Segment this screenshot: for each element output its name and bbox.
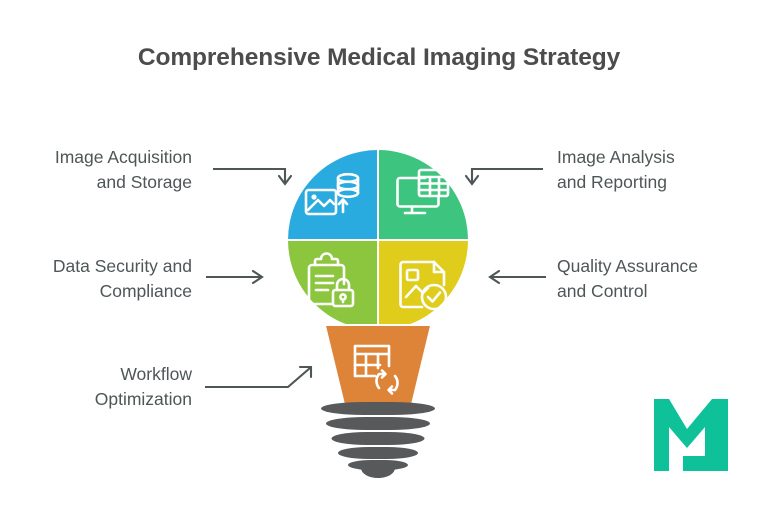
bulb-globe (288, 150, 468, 330)
bulb-quadrant-acquisition[interactable] (288, 150, 378, 240)
label-data-security-and-compliance: Data Security and Compliance (0, 254, 192, 304)
base-thread-4 (338, 447, 418, 459)
arrow-to-quality (490, 271, 546, 283)
bulb-neck-workflow[interactable] (319, 326, 437, 404)
base-tip (361, 468, 395, 478)
quadrant-seam-horizontal (288, 239, 468, 241)
bulb-screw-base (320, 402, 436, 474)
page-title: Comprehensive Medical Imaging Strategy (0, 44, 758, 72)
label-quality-assurance-and-control: Quality Assurance and Control (557, 254, 758, 304)
label-workflow-optimization: Workflow Optimization (0, 362, 192, 412)
base-thread-2 (326, 417, 430, 430)
logo-letter-m-icon (654, 399, 728, 471)
brand-logo (654, 399, 728, 471)
lightbulb-diagram (276, 150, 481, 470)
bulb-quadrant-security[interactable] (288, 240, 378, 330)
label-image-acquisition-and-storage: Image Acquisition and Storage (0, 145, 192, 195)
bulb-quadrant-quality[interactable] (378, 240, 468, 330)
base-thread-1 (321, 402, 435, 415)
arrow-to-security (206, 271, 262, 283)
label-image-analysis-and-reporting: Image Analysis and Reporting (557, 145, 758, 195)
bulb-quadrant-analysis[interactable] (378, 150, 468, 240)
base-thread-3 (332, 432, 425, 445)
